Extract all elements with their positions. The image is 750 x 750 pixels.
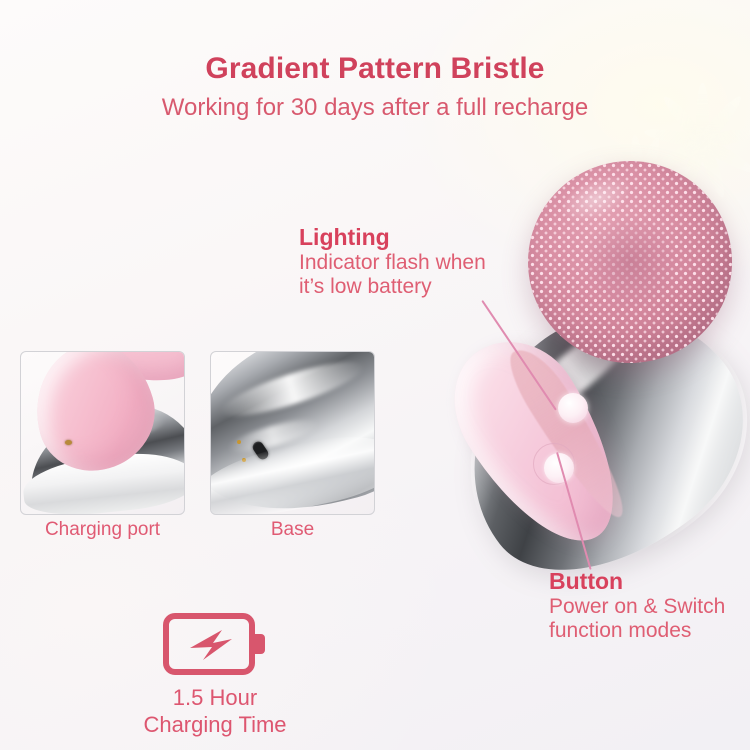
product-image xyxy=(430,155,750,585)
thumbnail-caption-charging-port: Charging port xyxy=(20,519,185,541)
led-indicator-icon xyxy=(558,393,588,423)
page-subtitle: Working for 30 days after a full recharg… xyxy=(0,94,750,122)
battery-bolt-icon xyxy=(163,612,267,676)
annotation-button-line2: function modes xyxy=(549,619,725,643)
thumbnail-base[interactable] xyxy=(210,351,375,515)
product-infographic: Gradient Pattern Bristle Working for 30 … xyxy=(0,0,750,750)
charging-time-block: 1.5 Hour Charging Time xyxy=(115,612,315,739)
charging-duration: 1.5 Hour xyxy=(115,685,315,712)
thumb1-charging-contact-icon xyxy=(65,440,72,445)
annotation-button-line1: Power on & Switch xyxy=(549,595,725,619)
annotation-lighting-line2: it’s low battery xyxy=(299,275,486,299)
annotation-lighting-line1: Indicator flash when xyxy=(299,251,486,275)
thumbnail-caption-base: Base xyxy=(210,519,375,541)
brush-head xyxy=(528,161,732,363)
thumb2-contact-pin-icon xyxy=(237,440,241,444)
annotation-button-heading: Button xyxy=(549,568,725,595)
annotation-lighting-heading: Lighting xyxy=(299,224,486,251)
thumbnail-charging-port[interactable] xyxy=(20,351,185,515)
annotation-button: Button Power on & Switch function modes xyxy=(549,568,725,643)
page-title: Gradient Pattern Bristle xyxy=(0,52,750,86)
charging-time-label: Charging Time xyxy=(115,712,315,739)
annotation-lighting: Lighting Indicator flash when it’s low b… xyxy=(299,224,486,299)
